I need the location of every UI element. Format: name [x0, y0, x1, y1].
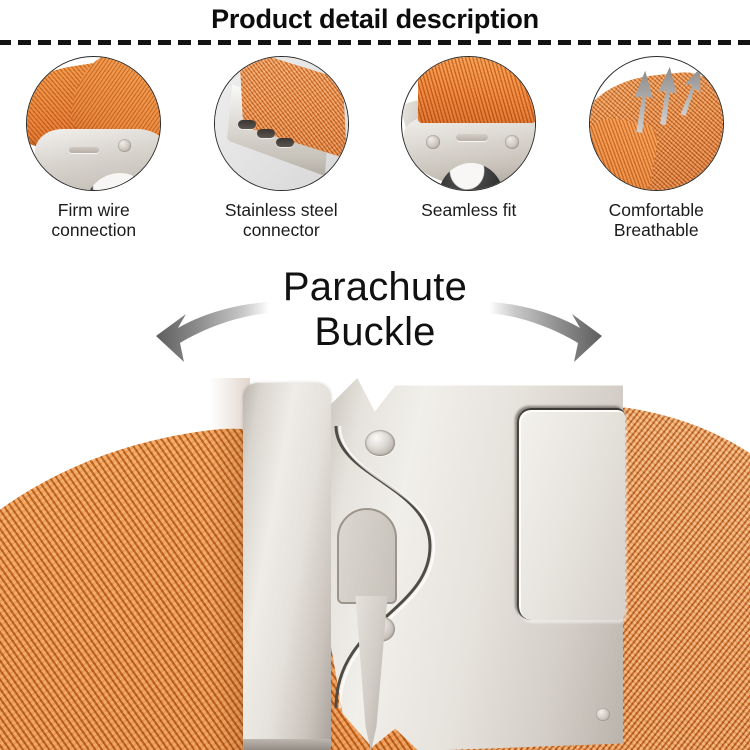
feature-item-seamless-fit: Seamless fit [375, 56, 563, 251]
feature-label: Stainless steel connector [225, 200, 338, 240]
feature-item-stainless-steel-connector: Stainless steel connector [188, 56, 376, 251]
page-title: Product detail description [0, 4, 750, 35]
connector-slot [257, 129, 275, 138]
feature-label: Firm wire connection [51, 200, 136, 240]
connector-slot [276, 138, 294, 147]
comfortable-breathable-photo [589, 56, 724, 191]
seamless-fit-photo [401, 56, 536, 191]
feature-item-firm-wire-connection: Firm wire connection [0, 56, 188, 251]
curved-arrow-left-icon [140, 296, 270, 368]
connector-slot [238, 120, 256, 129]
feature-callout-row: Firm wire connection Stainless steel con… [0, 56, 750, 251]
buckle-rivet [365, 430, 395, 456]
airflow-arrows-icon [590, 57, 723, 190]
header-dashed-divider [0, 40, 750, 45]
buckle-tongue-slot [337, 508, 397, 604]
stainless-steel-connector-photo [214, 56, 349, 191]
buckle-release-panel [517, 408, 625, 620]
orange-band-shape [418, 56, 536, 123]
buckle-heading: Parachute Buckle [0, 265, 750, 355]
parachute-buckle-photo [0, 378, 750, 750]
feature-label: Seamless fit [421, 200, 516, 220]
screw-icon [596, 708, 610, 721]
watch-band-wire-connection-photo [26, 56, 161, 191]
curved-arrow-right-icon [488, 296, 618, 368]
feature-label: Comfortable Breathable [609, 200, 704, 240]
feature-item-comfortable-breathable: Comfortable Breathable [563, 56, 750, 251]
